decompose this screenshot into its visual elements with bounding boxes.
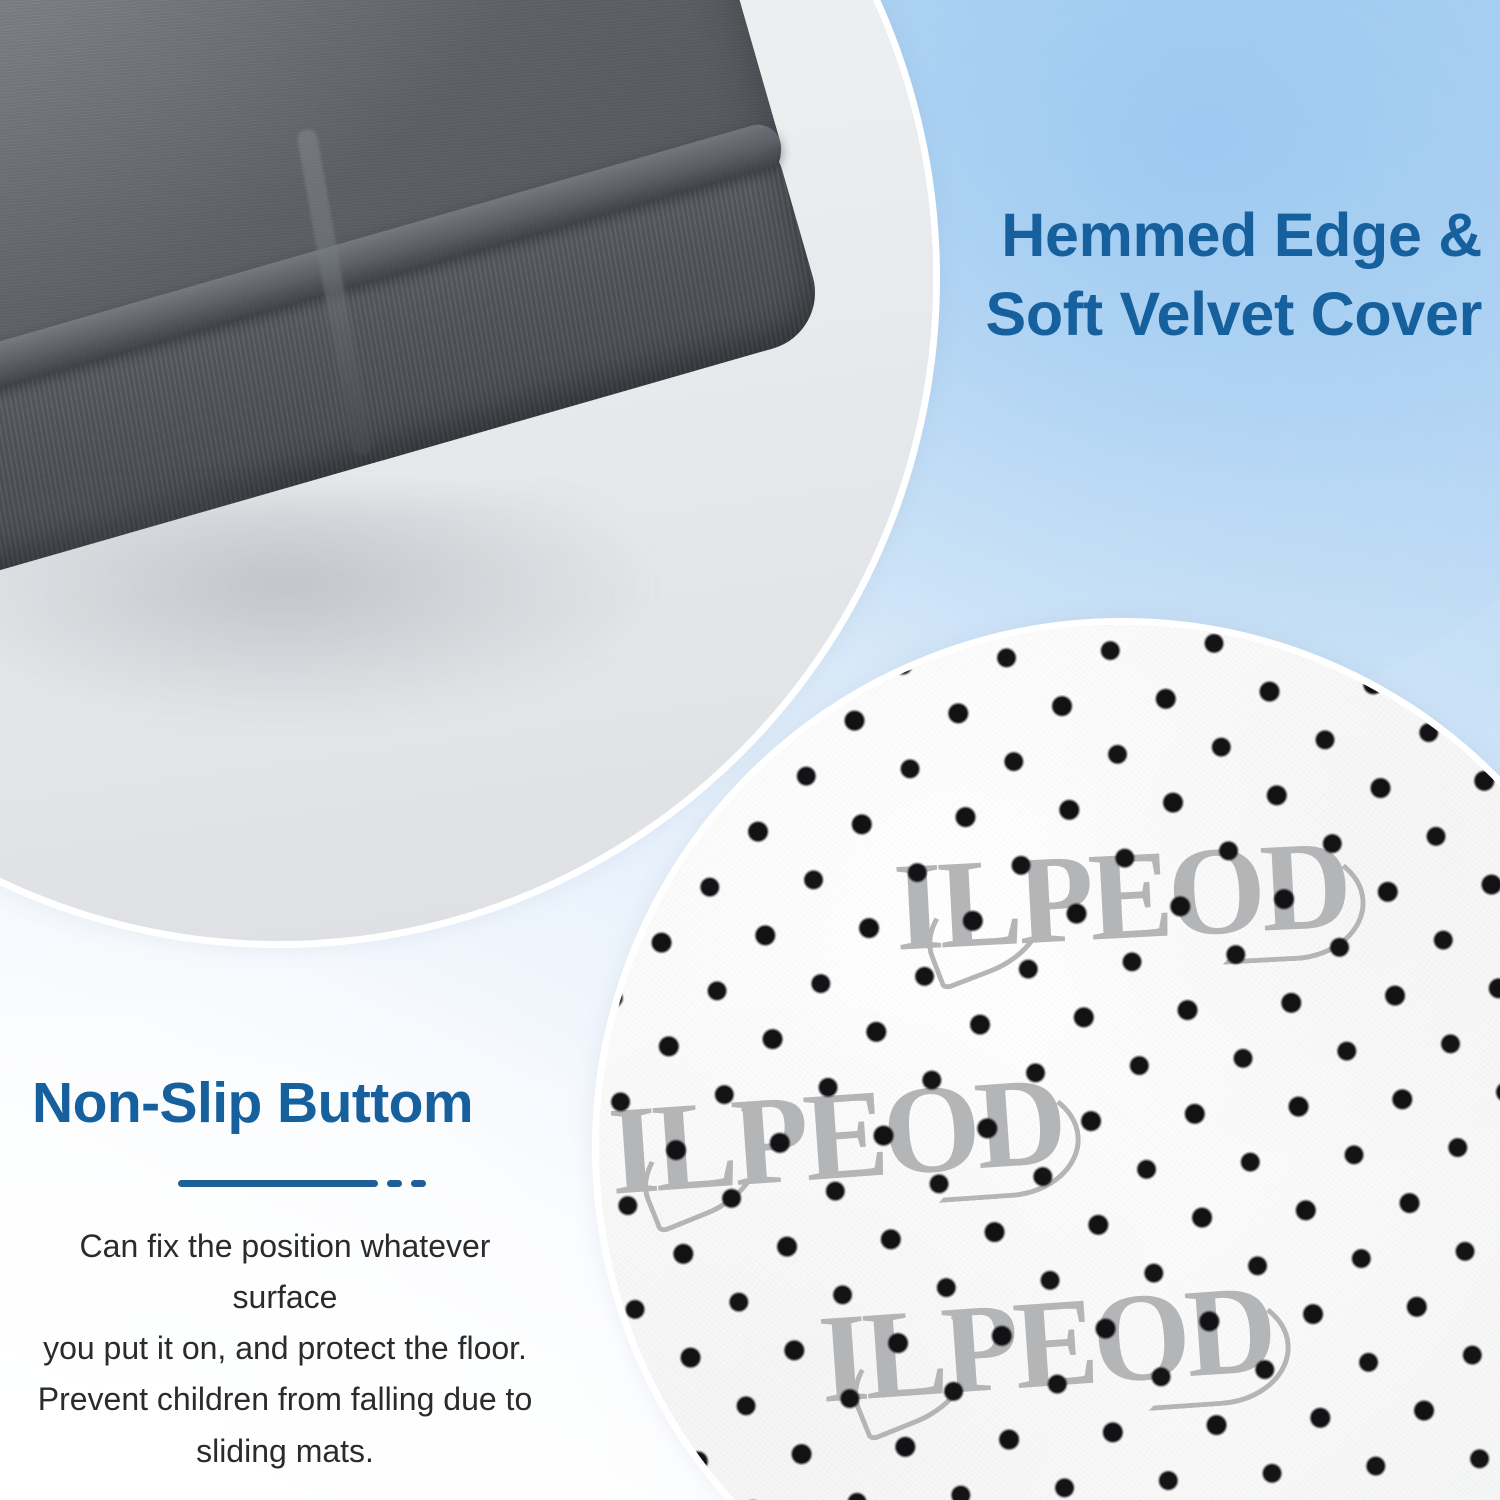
headline-line-2: Soft Velvet Cover [862, 275, 1482, 354]
feature-body-line-4: sliding mats. [26, 1426, 544, 1477]
mat-surface: ILPEOD ILPEOD ILPEOD [599, 625, 1500, 1500]
silicone-grip-dots [592, 618, 1500, 1500]
headline-line-1: Hemmed Edge & [862, 196, 1482, 275]
feature-title: Non-Slip Buttom [0, 1072, 570, 1136]
divider [0, 1180, 570, 1187]
feature-description: Can fix the position whatever surface yo… [0, 1221, 570, 1477]
cushion-object [0, 0, 848, 582]
divider-bar [178, 1180, 378, 1187]
non-slip-bottom-photo: ILPEOD ILPEOD ILPEOD [592, 618, 1500, 1500]
divider-dash-2 [411, 1180, 426, 1187]
feature-body-line-1: Can fix the position whatever surface [26, 1221, 544, 1323]
divider-dash-1 [387, 1180, 402, 1187]
feature-body-line-2: you put it on, and protect the floor. [26, 1323, 544, 1374]
headline: Hemmed Edge & Soft Velvet Cover [862, 196, 1482, 355]
product-feature-banner: ILPEOD ILPEOD ILPEOD Hemmed Edge & Soft … [0, 0, 1500, 1500]
feature-body-line-3: Prevent children from falling due to [26, 1374, 544, 1425]
feature-block: Non-Slip Buttom Can fix the position wha… [0, 1072, 570, 1477]
